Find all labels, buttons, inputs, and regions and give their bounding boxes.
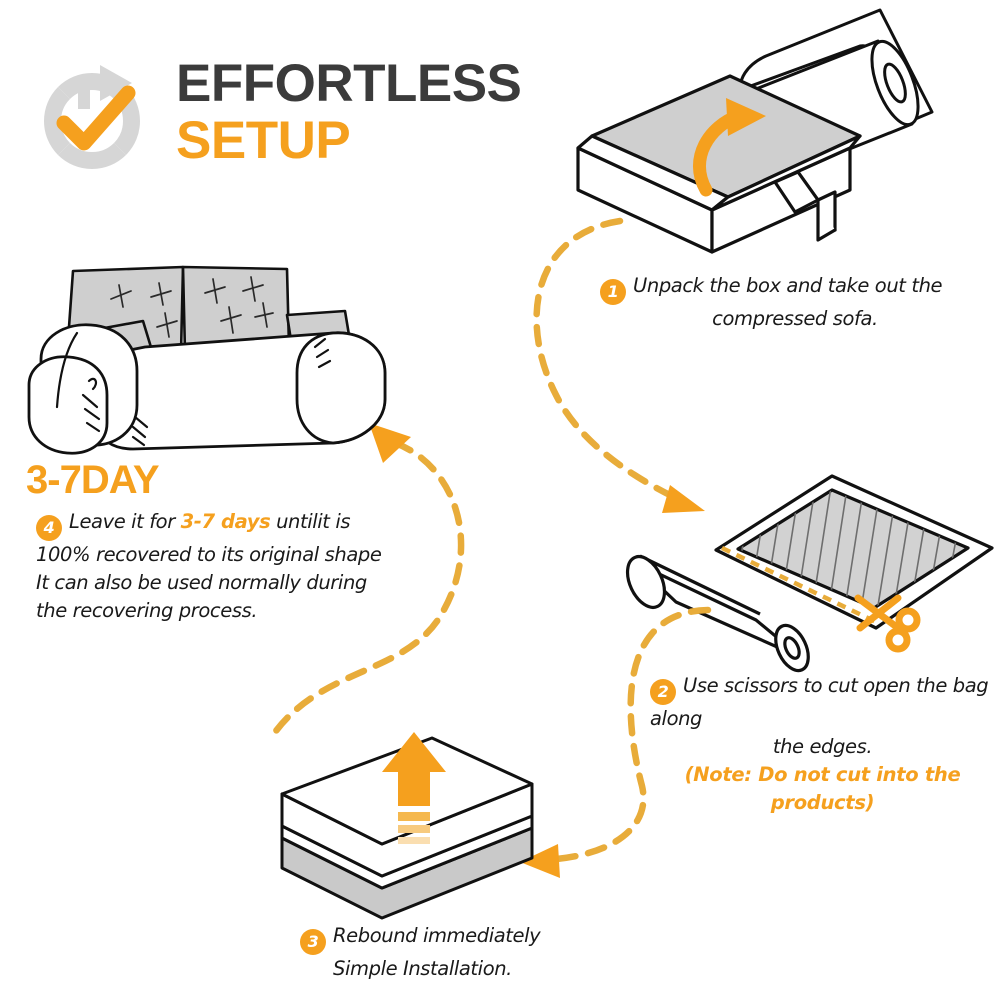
- header: EFFORTLESS SETUP: [28, 55, 548, 185]
- page-title: EFFORTLESS SETUP: [176, 55, 556, 169]
- illustration-assembled-sofa: [15, 255, 415, 460]
- title-sub: SETUP: [176, 112, 556, 169]
- title-main: EFFORTLESS: [176, 55, 556, 112]
- step-3-line-1: Rebound immediately: [333, 924, 540, 947]
- day-heading: 3-7DAY: [26, 458, 159, 503]
- step-4-text-before: Leave it for: [69, 510, 181, 533]
- step-4-highlight: 3-7 days: [181, 510, 271, 533]
- step-4-text: 4Leave it for 3-7 days untilit is 100% r…: [36, 508, 396, 625]
- step-3-text: 3Rebound immediately Simple Installation…: [300, 922, 590, 983]
- circular-arrow-check-icon: [28, 63, 158, 181]
- step-3-badge: 3: [300, 929, 326, 955]
- step-4-badge: 4: [36, 515, 62, 541]
- step-3-line-2: Simple Installation.: [333, 955, 590, 983]
- infographic-canvas: EFFORTLESS SETUP: [0, 0, 1000, 1000]
